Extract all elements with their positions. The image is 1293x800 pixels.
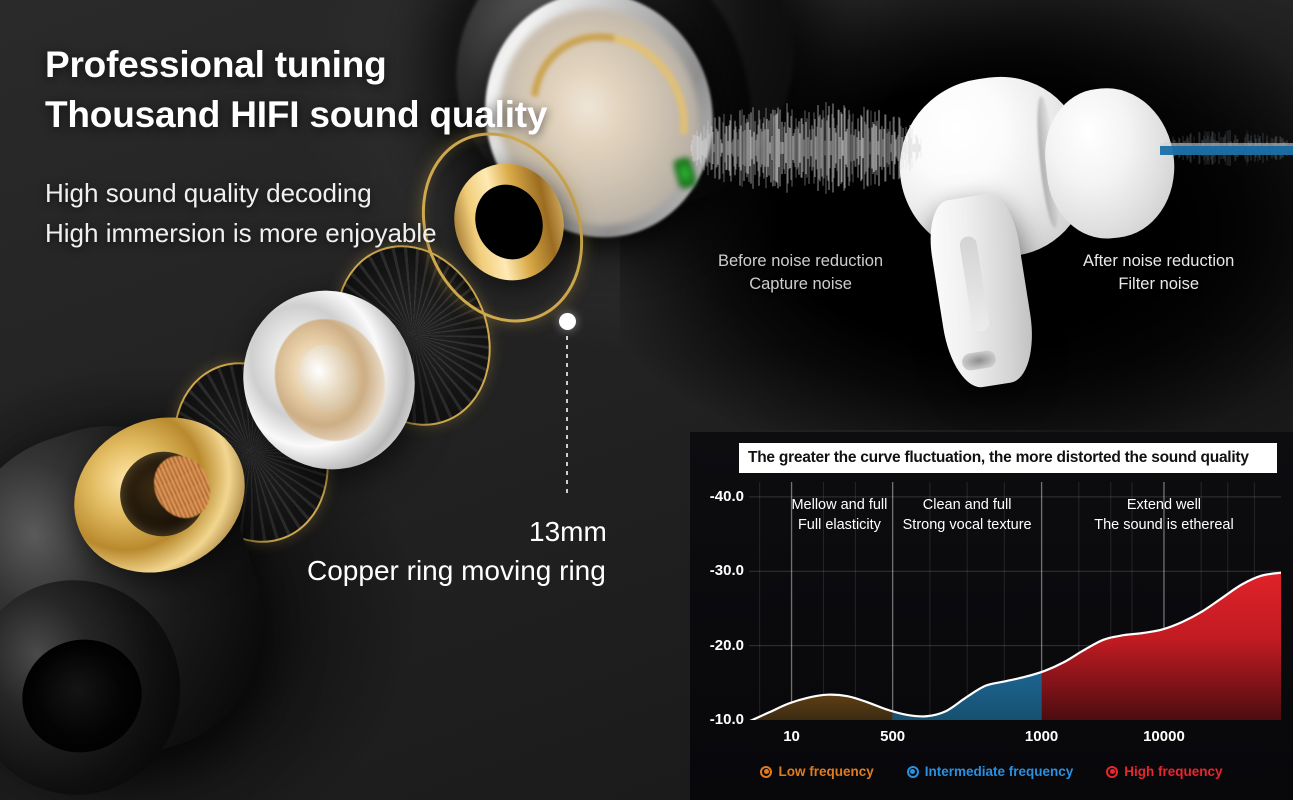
chart-caption: The greater the curve fluctuation, the m… [739,443,1277,473]
waveform-before-noise-reduction [690,86,922,221]
legend-item[interactable]: Intermediate frequency [907,764,1074,779]
y-axis-tick: -10.0 [690,711,744,728]
subhead-line-2: High immersion is more enjoyable [45,214,437,254]
callout-dot [559,313,576,330]
subhead-line-1: High sound quality decoding [45,174,437,214]
legend-label: Intermediate frequency [925,764,1074,779]
before-noise-title: Before noise reduction [718,250,883,273]
driver-size-label: 13mm [529,516,607,548]
callout-leader-line [566,336,568,498]
headline-line-1: Professional tuning [45,40,547,90]
headline-line-2: Thousand HIFI sound quality [45,90,547,140]
legend-marker-icon [1106,766,1118,778]
after-noise-sub: Filter noise [1083,273,1234,296]
page-title: Professional tuning Thousand HIFI sound … [45,40,547,139]
before-noise-reduction-label: Before noise reduction Capture noise [718,250,883,297]
y-axis-tick: -20.0 [690,637,744,654]
driver-type-label: Copper ring moving ring [307,555,606,587]
before-noise-sub: Capture noise [718,273,883,296]
after-noise-title: After noise reduction [1083,250,1234,273]
x-axis-tick: 500 [858,728,928,745]
after-noise-reduction-label: After noise reduction Filter noise [1083,250,1234,297]
y-axis-tick: -30.0 [690,562,744,579]
frequency-response-chart: The greater the curve fluctuation, the m… [690,432,1293,800]
chart-plot-area [749,482,1281,720]
waveform-after-noise-reduction [1160,86,1293,221]
product-marketing-image: Professional tuning Thousand HIFI sound … [0,0,1293,800]
legend-marker-icon [760,766,772,778]
x-axis-tick: 1000 [1007,728,1077,745]
x-axis-tick: 10000 [1129,728,1199,745]
legend-label: Low frequency [778,764,873,779]
legend-marker-icon [907,766,919,778]
x-axis-tick: 10 [757,728,827,745]
page-subtitle: High sound quality decoding High immersi… [45,174,437,253]
legend-item[interactable]: Low frequency [760,764,873,779]
chart-legend: Low frequencyIntermediate frequencyHigh … [690,764,1293,779]
y-axis-tick: -40.0 [690,488,744,505]
legend-item[interactable]: High frequency [1106,764,1222,779]
legend-label: High frequency [1124,764,1222,779]
